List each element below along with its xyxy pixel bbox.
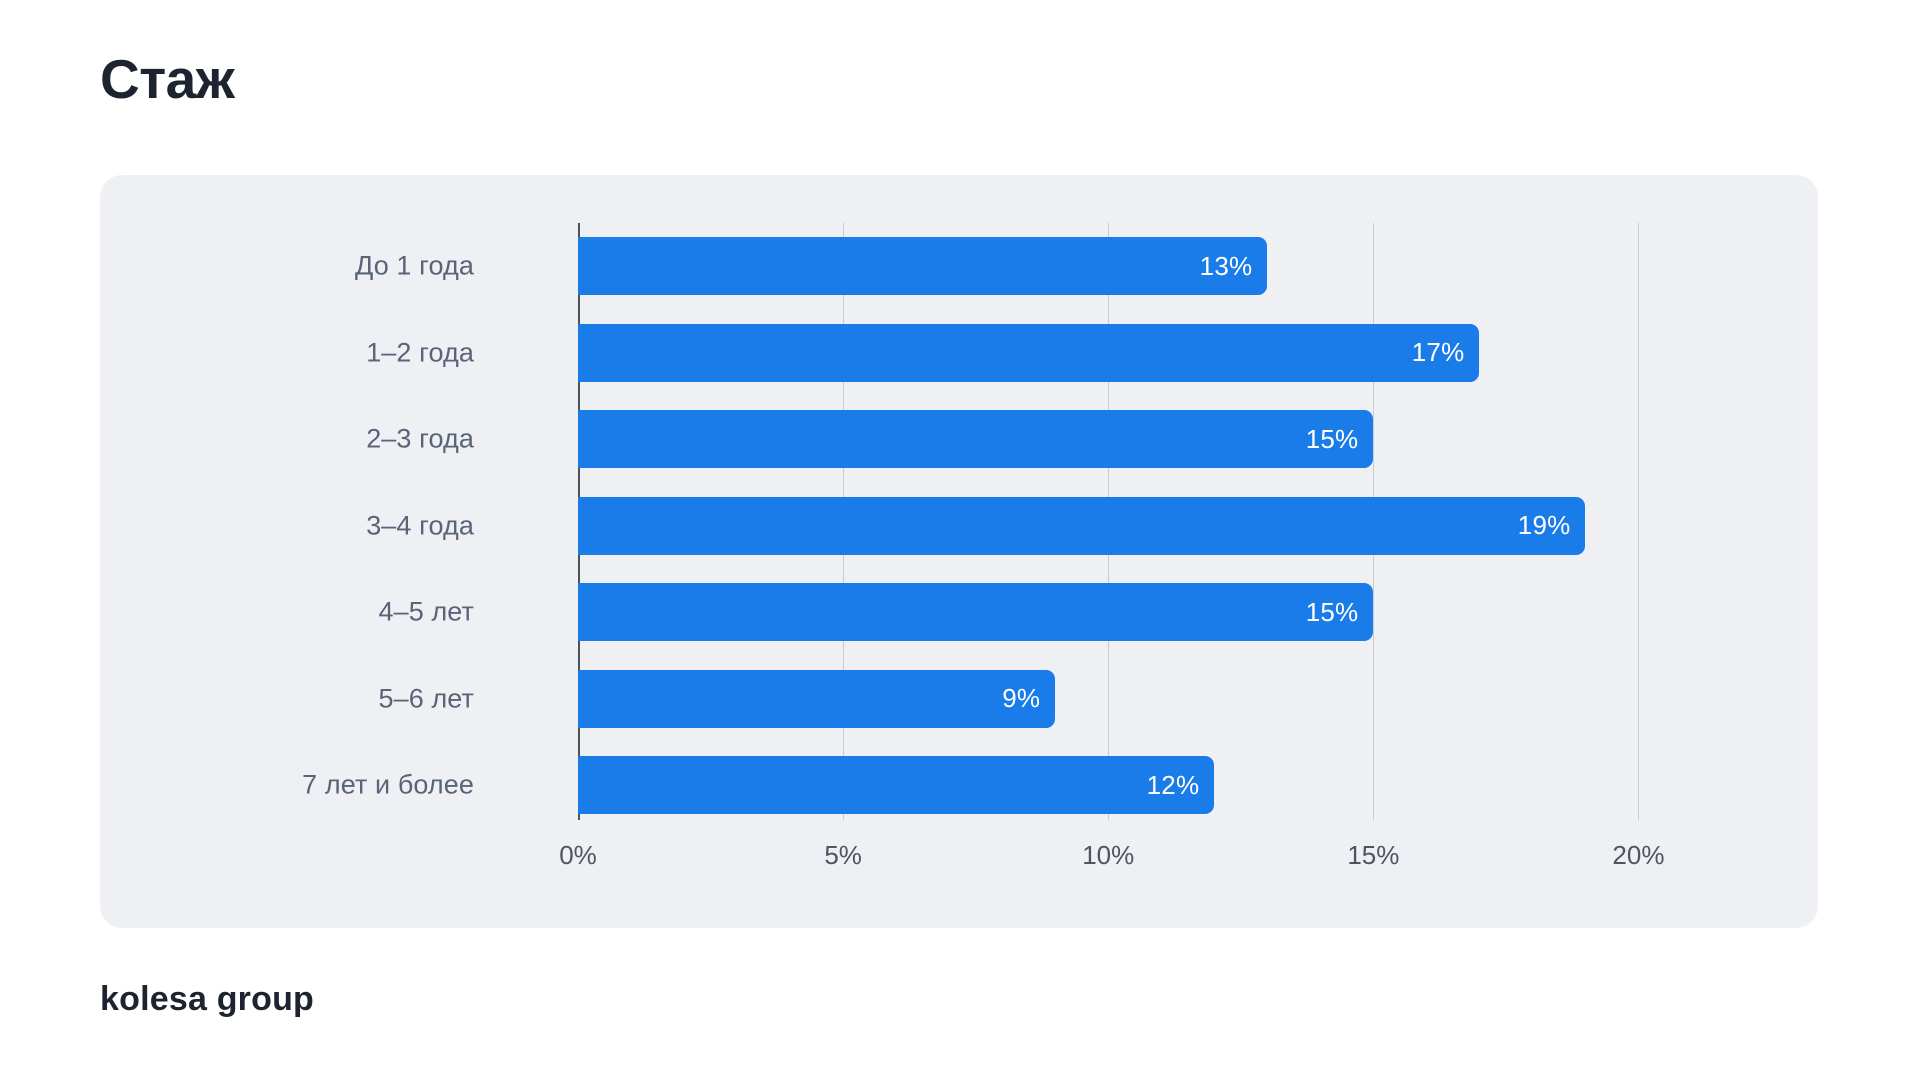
category-label: 1–2 года xyxy=(366,337,474,368)
page-root: Стаж До 1 года13%1–2 года17%2–3 года15%3… xyxy=(0,0,1920,1080)
bar-value-label: 17% xyxy=(1412,337,1480,368)
category-label: 4–5 лет xyxy=(379,597,475,628)
category-label: До 1 года xyxy=(355,251,474,282)
chart-rows: До 1 года13%1–2 года17%2–3 года15%3–4 го… xyxy=(100,223,1818,829)
chart-row: До 1 года13% xyxy=(100,223,1818,310)
bar-value-label: 15% xyxy=(1306,597,1374,628)
bar-chart-plot: До 1 года13%1–2 года17%2–3 года15%3–4 го… xyxy=(100,175,1818,928)
bar-value-label: 13% xyxy=(1200,251,1268,282)
bar-value-label: 9% xyxy=(1002,683,1055,714)
chart-row: 2–3 года15% xyxy=(100,396,1818,483)
chart-row: 5–6 лет9% xyxy=(100,656,1818,743)
bar[interactable]: 17% xyxy=(578,324,1479,382)
bar[interactable]: 9% xyxy=(578,670,1055,728)
x-tick-label: 10% xyxy=(1082,840,1134,871)
chart-row: 4–5 лет15% xyxy=(100,569,1818,656)
bar[interactable]: 15% xyxy=(578,583,1373,641)
x-tick-label: 0% xyxy=(559,840,597,871)
x-tick-label: 5% xyxy=(824,840,862,871)
category-label: 2–3 года xyxy=(366,424,474,455)
bar[interactable]: 19% xyxy=(578,497,1585,555)
x-tick-label: 20% xyxy=(1612,840,1664,871)
brand-logo: kolesa group xyxy=(100,980,314,1019)
category-label: 7 лет и более xyxy=(302,770,474,801)
bar-value-label: 15% xyxy=(1306,424,1374,455)
x-axis: 0%5%10%15%20% xyxy=(100,820,1818,880)
chart-card: До 1 года13%1–2 года17%2–3 года15%3–4 го… xyxy=(100,175,1818,928)
category-label: 3–4 года xyxy=(366,510,474,541)
chart-row: 3–4 года19% xyxy=(100,483,1818,570)
bar-value-label: 12% xyxy=(1147,770,1215,801)
page-title: Стаж xyxy=(100,48,234,111)
bar[interactable]: 15% xyxy=(578,410,1373,468)
bar[interactable]: 13% xyxy=(578,237,1267,295)
chart-row: 7 лет и более12% xyxy=(100,742,1818,829)
category-label: 5–6 лет xyxy=(379,683,475,714)
x-tick-label: 15% xyxy=(1347,840,1399,871)
bar[interactable]: 12% xyxy=(578,756,1214,814)
chart-row: 1–2 года17% xyxy=(100,310,1818,397)
bar-value-label: 19% xyxy=(1518,510,1586,541)
